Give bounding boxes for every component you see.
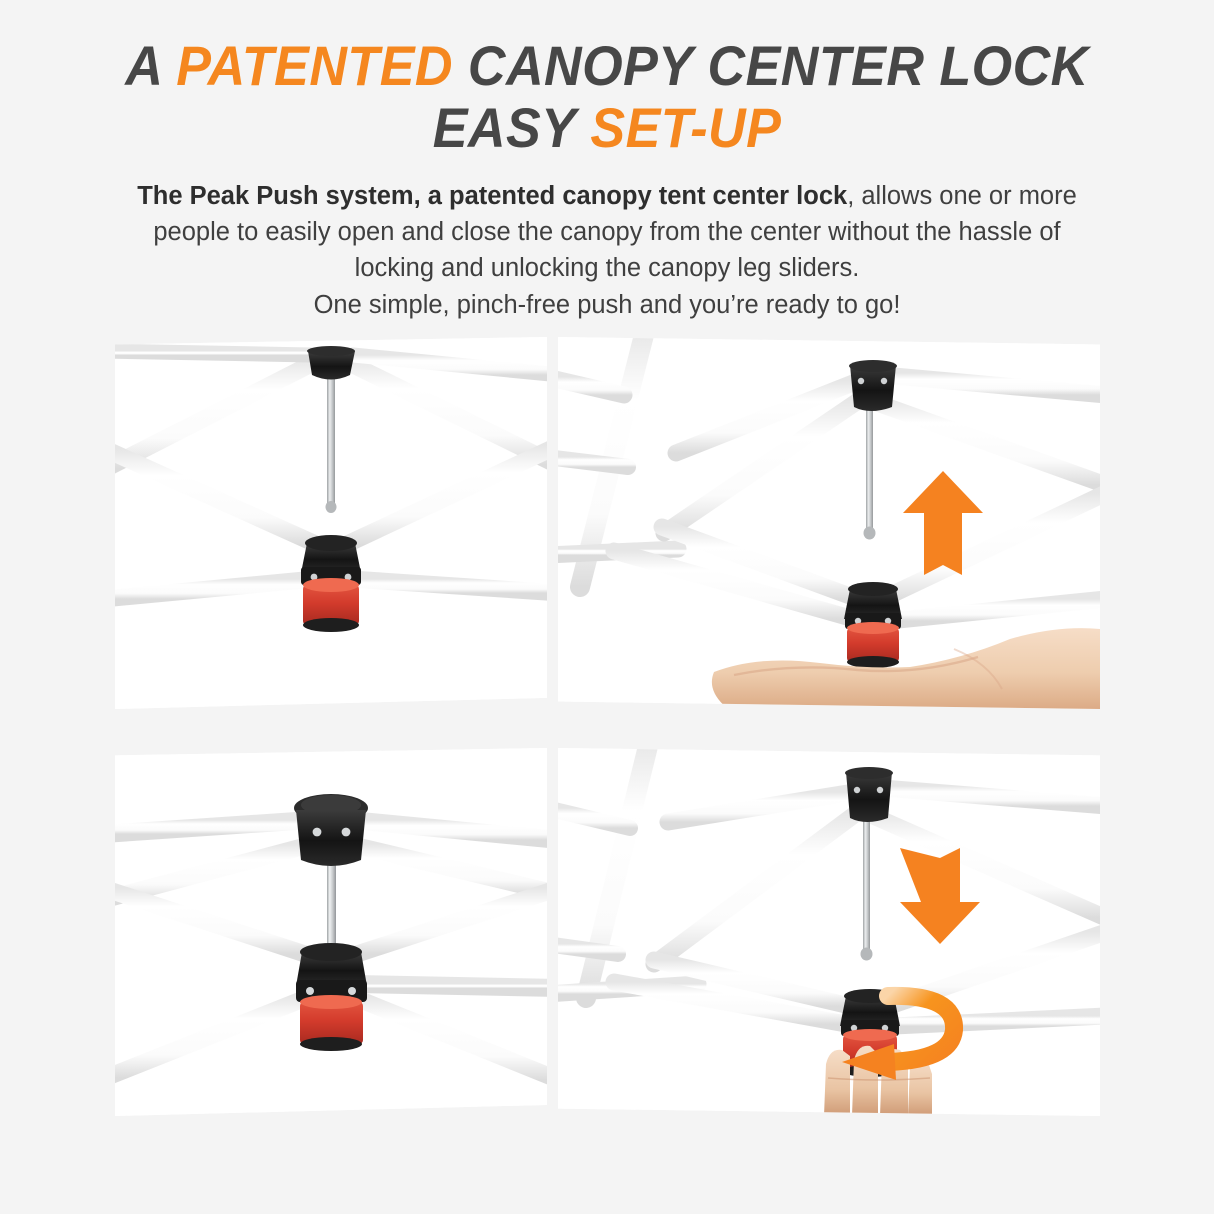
body-copy-line-3: locking and unlocking the canopy leg sli… [77,250,1137,286]
headline-text-easy: EASY [433,96,591,159]
headline-highlight-patented: PATENTED [176,34,453,97]
photo-locked-open [115,748,547,1116]
body-copy-line-4: One simple, pinch-free push and you’re r… [77,287,1137,323]
panel-push-up[interactable] [558,337,1100,709]
headline-highlight-setup: SET-UP [590,96,781,159]
top-bracket-icon [307,346,355,380]
photo-push-up [558,337,1100,709]
photo-pull-down-twist [558,748,1100,1116]
headline-block: A PATENTED CANOPY CENTER LOCK EASY SET-U… [0,0,1214,156]
headline-text-canopy-center-lock: CANOPY CENTER LOCK [453,34,1089,97]
body-copy-block: The Peak Push system, a patented canopy … [77,178,1137,323]
top-bracket-icon [294,794,368,866]
headline-line-2: EASY SET-UP [42,100,1171,156]
top-bracket-icon [849,360,897,411]
panel-locked-open[interactable] [115,748,547,1116]
top-bracket-icon [845,767,893,822]
panel-collapsed-frame[interactable] [115,337,547,709]
body-copy-line-1-rest: , allows one or more [847,182,1077,210]
center-lock-hub [296,943,367,1051]
body-copy-bold-lead: The Peak Push system, a patented canopy … [137,182,847,210]
headline-text-a: A [125,34,176,97]
body-copy-line-1: The Peak Push system, a patented canopy … [77,178,1137,214]
photo-collapsed-frame [115,337,547,709]
headline-line-1: A PATENTED CANOPY CENTER LOCK [42,38,1171,94]
body-copy-line-2: people to easily open and close the cano… [77,214,1137,250]
center-lock-hub [844,582,902,668]
panel-pull-down-twist[interactable] [558,748,1100,1116]
center-lock-hub [301,535,361,632]
